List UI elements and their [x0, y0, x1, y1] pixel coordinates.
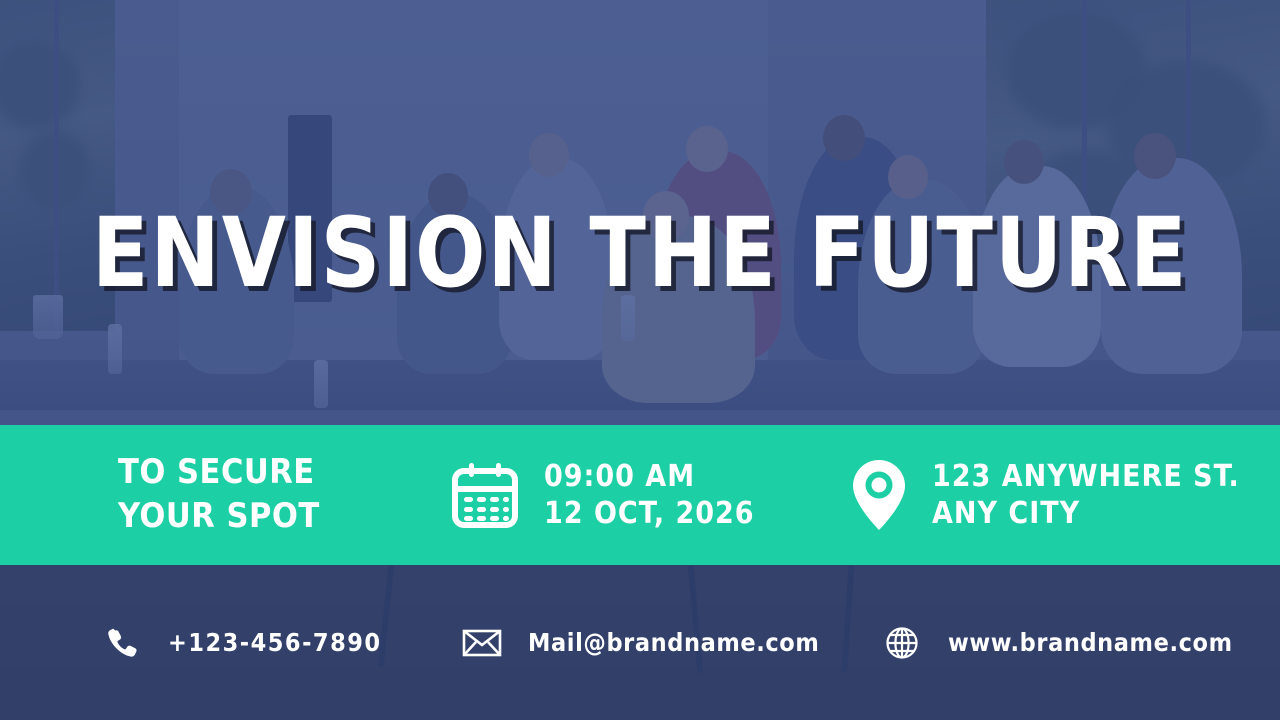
headline-container: ENVISION THE FUTURE [0, 205, 1280, 301]
contact-website[interactable]: www.brandname.com [880, 621, 1233, 665]
contact-email[interactable]: Mail@brandname.com [460, 621, 880, 665]
page-title: ENVISION THE FUTURE [92, 205, 1189, 301]
phone-icon [100, 621, 144, 665]
event-banner: ENVISION THE FUTURE TO SECURE YOUR SPOT [0, 0, 1280, 720]
date-block: 09:00 AM 12 OCT, 2026 [448, 458, 848, 533]
event-date: 12 OCT, 2026 [544, 495, 755, 533]
cta-line-1: TO SECURE [118, 451, 320, 495]
website-url: www.brandname.com [948, 628, 1233, 657]
globe-icon [880, 621, 924, 665]
location-line-1: 123 ANYWHERE ST. [932, 458, 1240, 496]
cta-line-2: YOUR SPOT [118, 495, 320, 539]
location-line-2: ANY CITY [932, 495, 1240, 533]
calendar-icon [448, 458, 522, 532]
cta-block: TO SECURE YOUR SPOT [118, 451, 448, 538]
contact-phone[interactable]: +123-456-7890 [100, 621, 460, 665]
contact-footer: +123-456-7890 Mail@brandname.com [0, 565, 1280, 720]
envelope-icon [460, 621, 504, 665]
email-address: Mail@brandname.com [528, 628, 819, 657]
location-block: 123 ANYWHERE ST. ANY CITY [848, 457, 1240, 533]
phone-number: +123-456-7890 [168, 628, 382, 657]
event-time: 09:00 AM [544, 458, 755, 496]
info-band: TO SECURE YOUR SPOT [0, 425, 1280, 565]
map-pin-icon [848, 457, 910, 533]
